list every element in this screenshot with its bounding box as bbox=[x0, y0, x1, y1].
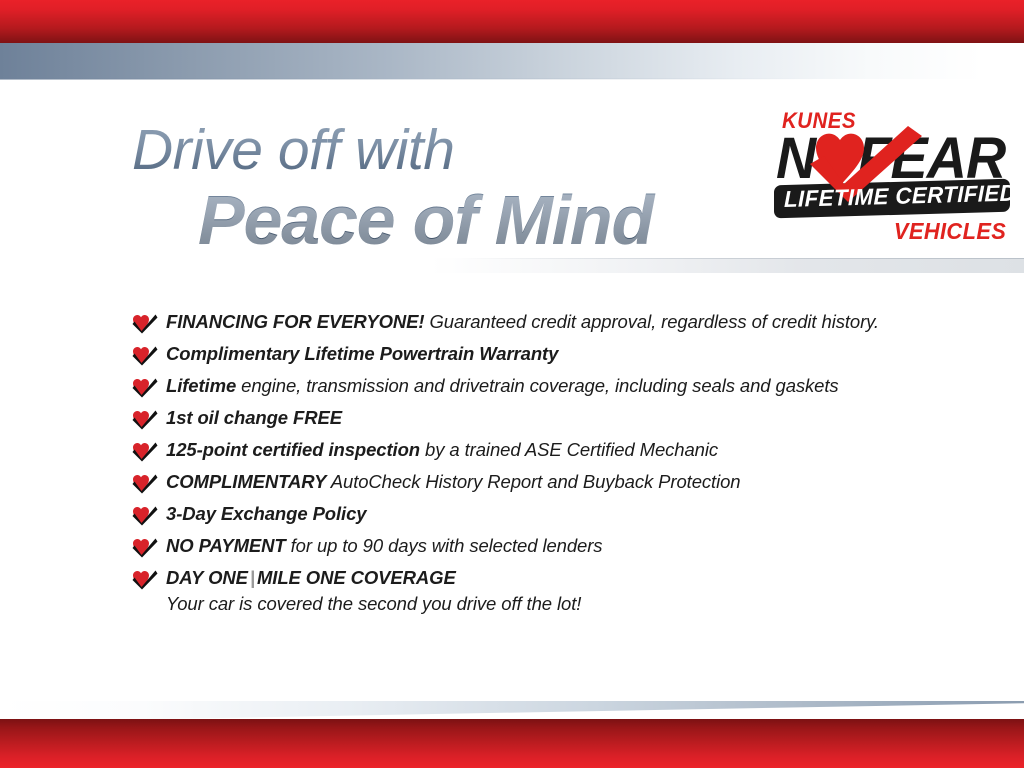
list-item: 125-point certified inspection by a trai… bbox=[130, 434, 960, 466]
list-item: Complimentary Lifetime Powertrain Warran… bbox=[130, 338, 960, 370]
list-item-text: NO PAYMENT for up to 90 days with select… bbox=[166, 536, 602, 556]
list-item: 1st oil change FREE bbox=[130, 402, 960, 434]
list-item-text: 1st oil change FREE bbox=[166, 408, 342, 428]
heart-check-icon bbox=[130, 472, 158, 494]
top-red-band bbox=[0, 0, 1024, 43]
list-item-bold: 3-Day Exchange Policy bbox=[166, 503, 366, 524]
headline-line-2: Peace of Mind bbox=[198, 185, 752, 255]
promo-poster: Drive off with Peace of Mind KUNES NFEAR… bbox=[0, 0, 1024, 768]
logo-letter-n: N bbox=[776, 126, 815, 191]
list-item: Lifetime engine, transmission and drivet… bbox=[130, 370, 960, 402]
headline-block: Drive off with Peace of Mind bbox=[132, 122, 752, 255]
list-item-bold: Lifetime bbox=[166, 375, 236, 396]
list-item-text: Lifetime engine, transmission and drivet… bbox=[166, 376, 839, 396]
list-item-text: COMPLIMENTARY AutoCheck History Report a… bbox=[166, 472, 740, 492]
heart-check-icon bbox=[130, 408, 158, 430]
heart-check-icon bbox=[130, 440, 158, 462]
list-item-regular: for up to 90 days with selected lenders bbox=[286, 535, 603, 556]
headline-line-1: Drive off with bbox=[132, 122, 752, 179]
list-item-text: 125-point certified inspection by a trai… bbox=[166, 440, 718, 460]
list-item-bold: 1st oil change FREE bbox=[166, 407, 342, 428]
list-item: COMPLIMENTARY AutoCheck History Report a… bbox=[130, 466, 960, 498]
list-item-subline: Your car is covered the second you drive… bbox=[130, 591, 960, 617]
heart-check-icon bbox=[130, 568, 158, 590]
list-item-regular: Guaranteed credit approval, regardless o… bbox=[424, 311, 879, 332]
top-gray-gradient-band bbox=[0, 43, 1024, 79]
list-item-bold: FINANCING FOR EVERYONE! bbox=[166, 311, 424, 332]
list-item: FINANCING FOR EVERYONE! Guaranteed credi… bbox=[130, 306, 960, 338]
list-item-bold-mile-one: MILE ONE COVERAGE bbox=[257, 567, 456, 588]
top-band-edge-line bbox=[0, 78, 1024, 80]
list-item-bold-day-one: DAY ONE bbox=[166, 567, 248, 588]
list-item-regular: engine, transmission and drivetrain cove… bbox=[236, 375, 838, 396]
logo-vehicles-label: VEHICLES bbox=[894, 218, 1006, 245]
list-item-bold: NO PAYMENT bbox=[166, 535, 286, 556]
kunes-no-fear-logo: KUNES NFEAR LIFETIME CERTIFIED VEHICLES bbox=[770, 108, 1012, 248]
list-item-bold: 125-point certified inspection bbox=[166, 439, 420, 460]
list-item: DAY ONE|MILE ONE COVERAGE bbox=[130, 562, 960, 594]
section-divider bbox=[0, 258, 1024, 273]
list-item-text: 3-Day Exchange Policy bbox=[166, 504, 366, 524]
heart-check-icon bbox=[130, 504, 158, 526]
benefits-list: FINANCING FOR EVERYONE! Guaranteed credi… bbox=[130, 306, 960, 617]
list-item: NO PAYMENT for up to 90 days with select… bbox=[130, 530, 960, 562]
list-item-text: DAY ONE|MILE ONE COVERAGE bbox=[166, 568, 456, 588]
bottom-band-top-mask bbox=[0, 688, 1024, 701]
heart-check-icon bbox=[130, 376, 158, 398]
heart-check-icon bbox=[130, 312, 158, 334]
heart-check-icon bbox=[130, 536, 158, 558]
logo-banner-label: LIFETIME CERTIFIED bbox=[784, 178, 1001, 214]
bottom-red-band bbox=[0, 719, 1024, 768]
section-divider-line bbox=[0, 258, 1024, 259]
list-item-regular: by a trained ASE Certified Mechanic bbox=[420, 439, 718, 460]
list-item-subline-text: Your car is covered the second you drive… bbox=[166, 593, 581, 615]
list-item: 3-Day Exchange Policy bbox=[130, 498, 960, 530]
heart-check-icon bbox=[130, 344, 158, 366]
list-item-text: FINANCING FOR EVERYONE! Guaranteed credi… bbox=[166, 312, 879, 332]
list-item-bold: Complimentary Lifetime Powertrain Warran… bbox=[166, 343, 558, 364]
list-item-text: Complimentary Lifetime Powertrain Warran… bbox=[166, 344, 558, 364]
list-item-separator: | bbox=[248, 567, 257, 588]
top-decorative-banner bbox=[0, 0, 1024, 88]
bottom-decorative-banner bbox=[0, 688, 1024, 768]
list-item-bold: COMPLIMENTARY bbox=[166, 471, 326, 492]
list-item-regular: AutoCheck History Report and Buyback Pro… bbox=[326, 471, 740, 492]
